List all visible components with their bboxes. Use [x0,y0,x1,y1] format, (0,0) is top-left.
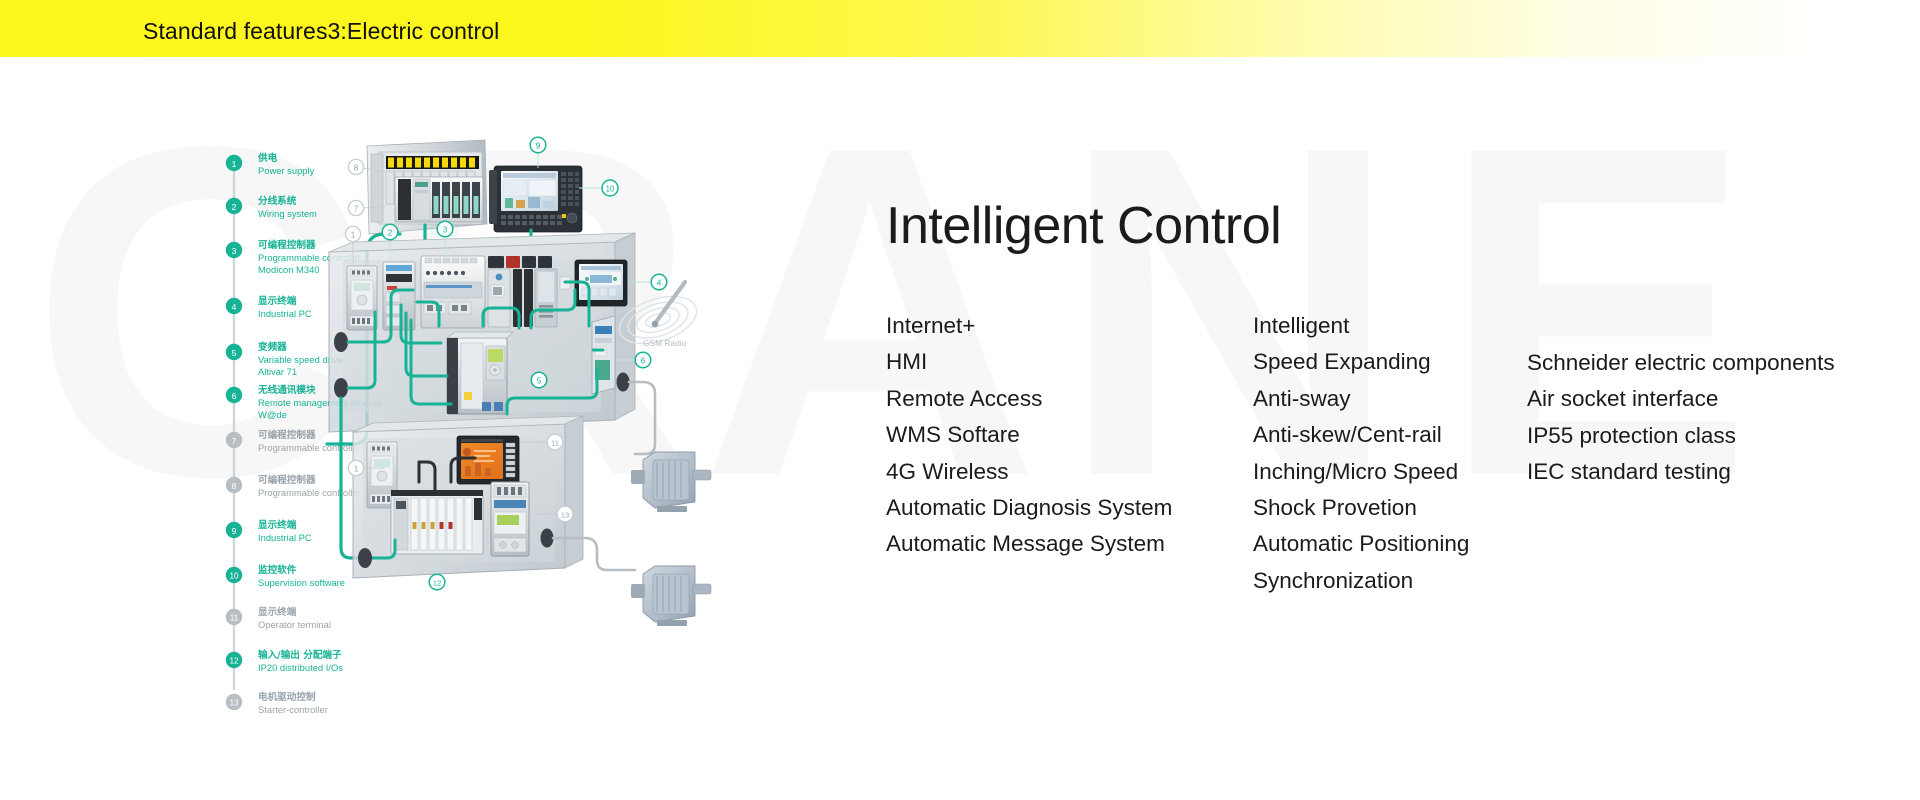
callout-10-label: 10 [606,184,615,193]
legend-en-11: Operator terminal [258,619,331,630]
legend-item-2[interactable]: 2 分线系统 Wiring system [226,195,317,219]
callout-2-label: 2 [388,228,393,237]
starter-controller [491,482,529,556]
legend-item-9[interactable]: 9 显示终端 Industrial PC [226,519,312,543]
feature-item: Automatic Message System [886,526,1172,562]
feature-item: Inching/Micro Speed [1253,454,1469,490]
legend-en-13: Starter-controller [258,704,328,715]
ip20-distributed-io [391,490,483,554]
feature-item: IEC standard testing [1527,454,1835,490]
legend-num-9: 9 [232,526,237,536]
feature-item: Internet+ [886,308,1172,344]
variable-speed-drive-altivar71 [447,332,513,414]
electric-control-diagram: 1 供电 Power supply 2 分线系统 Wiring system 3… [95,130,855,750]
legend-cn-6: 无线通讯模块 [257,384,316,396]
legend-en-12: IP20 distributed I/Os [258,662,343,673]
callout-1-lower-label: 1 [354,464,359,473]
callout-12-label: 12 [433,578,441,587]
power-supply-module [347,266,377,330]
operator-terminal [457,436,519,484]
legend-en-10: Supervision software [258,577,345,588]
legend-num-6: 6 [232,391,237,401]
callout-10[interactable]: 10 [579,180,618,196]
callout-11-label: 11 [551,438,559,447]
gsm-radio-label: GSM Radio [643,338,687,348]
legend-cn-3: 可编程控制器 [258,239,316,251]
feature-item: Anti-skew/Cent-rail [1253,417,1469,453]
legend-num-11: 11 [230,614,239,623]
legend-cn-5: 变频器 [258,341,287,353]
legend-cn-1: 供电 [257,152,278,164]
legend-cn-12: 输入/输出 分配端子 [258,649,342,661]
legend-cn-4: 显示终端 [258,295,297,307]
legend-en-9: Industrial PC [258,532,312,543]
callout-9[interactable]: 9 [530,137,546,168]
legend-num-5: 5 [232,348,237,358]
legend-num-3: 3 [232,246,237,256]
feature-column-2: Intelligent Speed Expanding Anti-sway An… [1253,308,1469,599]
callout-4-label: 4 [657,278,662,287]
motor-upper [631,452,711,512]
legend-en-4: Industrial PC [258,308,312,319]
legend-cn-9: 显示终端 [258,519,297,531]
legend-cn-7: 可编程控制器 [258,429,316,441]
callout-7-label: 7 [354,204,359,213]
feature-item: Schneider electric components [1527,345,1835,381]
legend-cn-10: 监控软件 [258,564,297,576]
feature-item: 4G Wireless [886,454,1172,490]
feature-item: Anti-sway [1253,381,1469,417]
feature-item: WMS Softare [886,417,1172,453]
callout-9-label: 9 [536,141,541,150]
callout-5-label: 5 [537,376,542,385]
feature-item: HMI [886,344,1172,380]
legend-en-2: Wiring system [258,208,317,219]
remote-management-module-wade [592,316,615,394]
callout-3-label: 3 [443,225,448,234]
legend-en2-5: Altivar 71 [258,366,297,377]
callout-6-label: 6 [641,356,646,365]
legend-en2-6: W@de [258,409,287,420]
feature-item: Intelligent [1253,308,1469,344]
legend-num-2: 2 [232,202,237,212]
legend-item-11[interactable]: 11 显示终端 Operator terminal [226,606,331,630]
feature-item: Remote Access [886,381,1172,417]
feature-item: Synchronization [1253,563,1469,599]
legend-item-4[interactable]: 4 显示终端 Industrial PC [226,295,312,319]
top-plc-cabinet [367,140,487,234]
legend-item-12[interactable]: 12 输入/输出 分配端子 IP20 distributed I/Os [226,649,343,673]
legend-item-1[interactable]: 1 供电 Power supply [226,152,315,176]
header-band: Standard features3:Electric control [0,0,1920,57]
legend-en2-3: Modicon M340 [258,264,320,275]
feature-column-1: Internet+ HMI Remote Access WMS Softare … [886,308,1172,563]
motor-lower [631,566,711,626]
legend-num-1: 1 [232,159,237,169]
callout-1-top-label: 1 [351,230,356,239]
legend-en-1: Power supply [258,165,315,176]
legend-num-7: 7 [232,436,237,446]
legend-en-8: Programmable controller [258,487,361,498]
feature-item: Automatic Diagnosis System [886,490,1172,526]
feature-item: Air socket interface [1527,381,1835,417]
legend-item-5[interactable]: 5 变频器 Variable speed drive Altivar 71 [226,341,343,377]
legend-num-4: 4 [232,302,237,312]
legend-cn-2: 分线系统 [258,195,297,207]
feature-item: IP55 protection class [1527,418,1835,454]
legend-num-13: 13 [229,699,239,708]
section-title: Intelligent Control [886,196,1281,256]
legend-num-10: 10 [229,572,239,581]
page-title: Standard features3:Electric control [143,18,499,45]
legend-cn-11: 显示终端 [258,606,297,618]
callout-8-label: 8 [354,163,359,172]
feature-item: Shock Provetion [1253,490,1469,526]
legend-cn-8: 可编程控制器 [258,474,316,486]
callout-13-label: 13 [561,510,569,519]
legend-item-10[interactable]: 10 监控软件 Supervision software [226,564,345,588]
legend-num-12: 12 [229,657,239,666]
legend-cn-13: 电机驱动控制 [258,691,316,703]
feature-item: Speed Expanding [1253,344,1469,380]
feature-item: Automatic Positioning [1253,526,1469,562]
legend-num-8: 8 [232,481,237,491]
legend-item-13[interactable]: 13 电机驱动控制 Starter-controller [226,691,328,715]
plc-rack-m340 [421,256,485,328]
feature-column-3: Schneider electric components Air socket… [1527,345,1835,491]
industrial-pc-top [489,166,582,232]
diagram-svg: 1 供电 Power supply 2 分线系统 Wiring system 3… [95,130,855,750]
